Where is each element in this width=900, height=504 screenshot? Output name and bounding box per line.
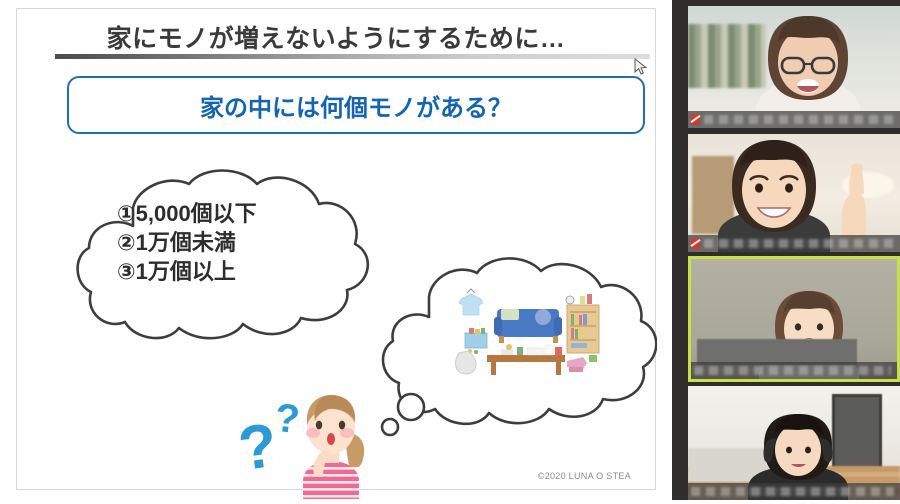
tile-4-name-bar <box>688 483 900 500</box>
option-item-3: ③1万個以上 <box>117 257 357 286</box>
tile-3-name-bar <box>691 362 897 379</box>
video-tile-participant-4[interactable] <box>688 386 900 500</box>
tile-2-name-bar <box>688 235 900 252</box>
tile-1-name-redacted <box>704 115 894 124</box>
sofa-icon <box>494 309 562 343</box>
mic-muted-icon <box>691 238 700 249</box>
toy-car-icon <box>567 355 597 372</box>
mouse-cursor-icon <box>634 58 648 76</box>
screen-share-view: 家にモノが増えないようにするために… 家の中には何個モノがある？ ①5,000個… <box>0 0 900 500</box>
thinking-woman-illustration <box>285 389 377 499</box>
question-callout-text: 家の中には何個モノがある？ <box>200 88 512 123</box>
toy-box-icon <box>465 328 487 354</box>
hanging-shirt-icon <box>459 289 483 315</box>
shared-slide-region[interactable]: 家にモノが増えないようにするために… 家の中には何個モノがある？ ①5,000個… <box>0 0 672 500</box>
slide-frame: 家にモノが増えないようにするために… 家の中には何個モノがある？ ①5,000個… <box>16 8 656 490</box>
video-tile-participant-2[interactable] <box>688 134 900 252</box>
copyright-notice: ©2020 LUNA O STEA <box>538 471 631 481</box>
option-item-1: ①5,000個以下 <box>117 199 357 228</box>
tile-2-name-redacted <box>704 239 894 248</box>
bookshelf-icon <box>566 294 599 353</box>
mic-muted-icon <box>691 114 700 125</box>
video-tile-participant-3[interactable] <box>688 256 900 382</box>
coffee-table-icon <box>487 344 565 375</box>
tile-1-name-bar <box>688 111 900 128</box>
options-list: ①5,000個以下 ②1万個未満 ③1万個以上 <box>117 199 357 286</box>
question-callout-box: 家の中には何個モノがある？ <box>67 76 645 134</box>
panel-divider <box>672 0 688 500</box>
participant-video-strip[interactable] <box>688 0 900 500</box>
video-tile-participant-1[interactable] <box>688 6 900 128</box>
bag-icon <box>456 351 477 374</box>
title-divider-rule <box>55 54 650 59</box>
tile-4-name-redacted <box>691 487 894 496</box>
tile-3-name-redacted <box>694 366 891 375</box>
slide-title: 家にモノが増えないようにするために… <box>17 19 655 55</box>
option-item-2: ②1万個未満 <box>117 228 357 257</box>
cluttered-room-illustration <box>449 287 609 382</box>
